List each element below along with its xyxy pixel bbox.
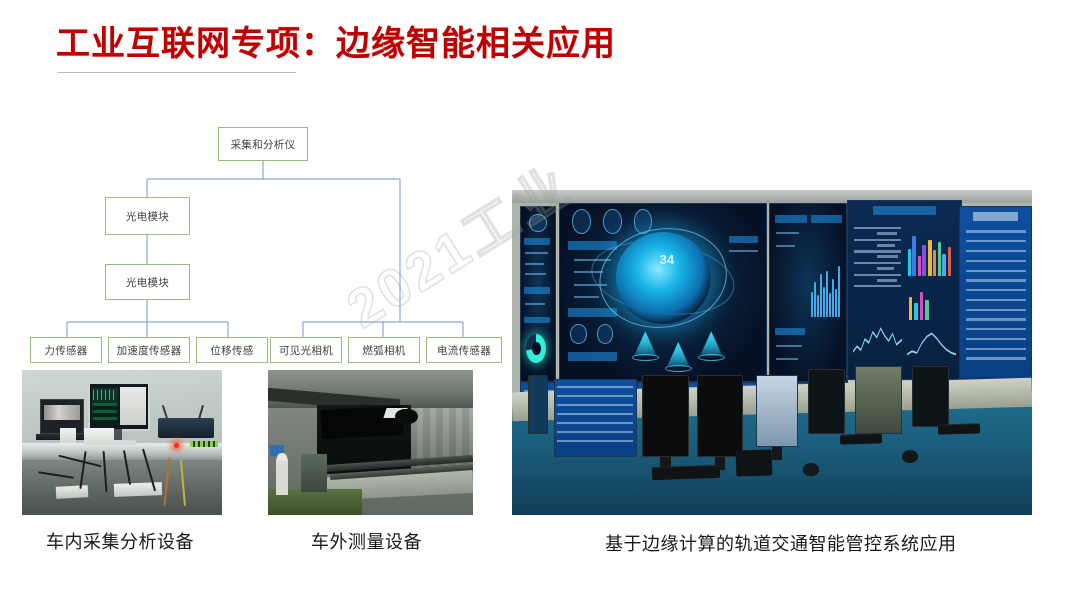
caption-in-vehicle-acquisition: 车内采集分析设备 [46,528,194,554]
node-acceleration-sensor[interactable]: 加速度传感器 [108,337,190,363]
operator-monitor-weather [756,375,798,447]
mouse-2 [902,450,918,463]
screen-report-charts [847,200,961,382]
caption-trackside-measurement: 车外测量设备 [311,528,422,554]
node-current-sensor[interactable]: 电流传感器 [426,337,502,363]
keyboard-1 [652,465,720,480]
in-vehicle-acquisition-photo [22,370,222,515]
node-visible-light-camera[interactable]: 可见光相机 [270,337,342,363]
node-label: 光电模块 [126,209,169,224]
screen-data-table [959,206,1032,378]
control-room-photo: 34 [512,190,1032,515]
trackside-measurement-photo [268,370,473,515]
screen-main-3d-dashboard: 34 [559,203,767,382]
mouse-1 [803,463,819,476]
node-label: 电流传感器 [437,343,491,358]
keyboard-3 [938,423,980,434]
operator-monitor-1 [528,375,549,434]
operator-screen-table [554,379,637,457]
node-label: 位移传感 [210,343,253,358]
operator-monitor-2 [642,375,689,456]
operator-monitor-3 [697,375,744,456]
slide-root: 工业互联网专项：边缘智能相关应用 [0,0,1080,607]
caption-control-room: 基于边缘计算的轨道交通智能管控系统应用 [605,530,957,556]
node-arc-camera[interactable]: 燃弧相机 [348,337,420,363]
node-label: 采集和分析仪 [231,137,296,152]
node-photoelectric-module-2[interactable]: 光电模块 [105,264,190,300]
node-label: 加速度传感器 [117,343,182,358]
node-displacement-sensor[interactable]: 位移传感 [196,337,268,363]
node-force-sensor[interactable]: 力传感器 [30,337,102,363]
operator-monitor-cctv-grid [855,366,902,434]
operator-monitor-5 [912,366,948,428]
node-label: 燃弧相机 [362,343,405,358]
keyboard-2 [839,433,881,444]
desk-phone [735,449,772,476]
node-photoelectric-module-1[interactable]: 光电模块 [105,197,190,235]
sensor-architecture-diagram: 采集和分析仪 光电模块 光电模块 力传感器 加速度传感器 位移传感 可见光相机 … [0,0,510,375]
node-root-collector-analyzer[interactable]: 采集和分析仪 [218,127,308,161]
screen-mid-trend [769,203,847,382]
operator-monitor-4 [808,369,844,434]
node-label: 力传感器 [44,343,87,358]
node-label: 可见光相机 [279,343,333,358]
screen-left-kpi [520,206,556,382]
dashboard-highlight-number: 34 [660,252,674,267]
node-label: 光电模块 [126,275,169,290]
diagram-connectors [0,0,510,375]
